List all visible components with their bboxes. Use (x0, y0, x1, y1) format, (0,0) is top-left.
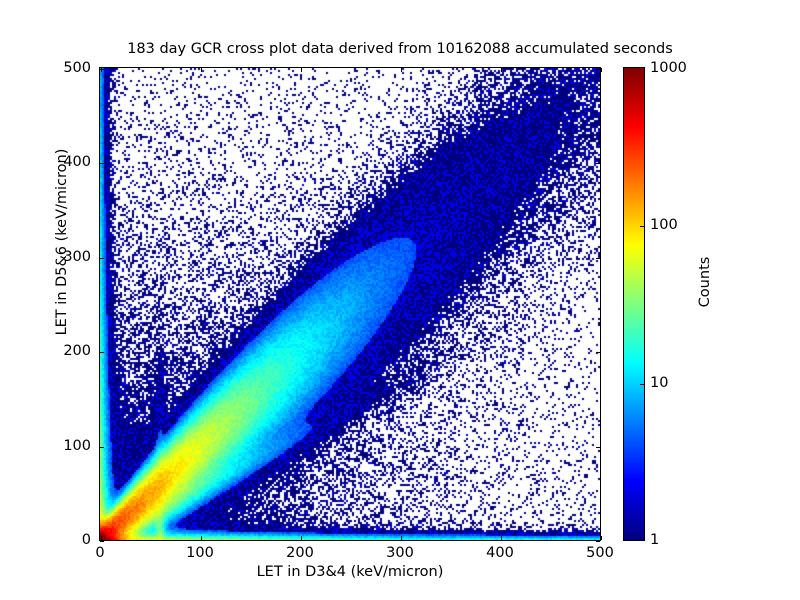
y-tick-mark (100, 258, 104, 259)
colorbar-tick-mark (640, 226, 644, 227)
colorbar-tick-label: 1000 (650, 60, 687, 76)
y-tick-label: 300 (33, 249, 91, 265)
density-heatmap-canvas (100, 68, 600, 540)
x-tick-mark (401, 536, 402, 540)
x-axis-label: LET in D3&4 (keV/micron) (99, 564, 601, 580)
colorbar-tick-mark (640, 384, 644, 385)
colorbar-label: Counts (697, 182, 713, 382)
y-tick-mark (100, 69, 104, 70)
x-tick-label: 0 (95, 545, 104, 561)
y-tick-label: 500 (33, 60, 91, 76)
y-tick-mark (596, 163, 600, 164)
y-tick-mark (596, 352, 600, 353)
y-tick-mark (596, 541, 600, 542)
x-tick-mark (201, 68, 202, 72)
x-tick-mark (601, 68, 602, 72)
gcr-cross-plot-figure: 183 day GCR cross plot data derived from… (0, 0, 800, 600)
y-tick-mark (100, 163, 104, 164)
y-tick-label: 400 (33, 154, 91, 170)
y-tick-mark (596, 258, 600, 259)
y-tick-mark (596, 69, 600, 70)
x-tick-label: 400 (486, 545, 514, 561)
x-tick-label: 100 (186, 545, 214, 561)
colorbar-gradient (624, 68, 644, 540)
x-tick-mark (101, 536, 102, 540)
colorbar-tick-label: 10 (650, 375, 668, 391)
colorbar (623, 67, 645, 541)
x-tick-label: 200 (286, 545, 314, 561)
x-tick-mark (301, 536, 302, 540)
plot-axes (99, 67, 601, 541)
x-tick-mark (201, 536, 202, 540)
x-tick-label: 300 (386, 545, 414, 561)
x-tick-mark (601, 536, 602, 540)
y-tick-mark (100, 352, 104, 353)
y-tick-label: 200 (33, 343, 91, 359)
x-tick-mark (501, 68, 502, 72)
colorbar-tick-label: 100 (650, 217, 678, 233)
title-line-1: 183 day GCR cross plot data derived from… (0, 41, 800, 59)
x-tick-mark (501, 536, 502, 540)
y-tick-mark (100, 541, 104, 542)
x-tick-mark (401, 68, 402, 72)
x-tick-mark (301, 68, 302, 72)
x-tick-label: 500 (586, 545, 614, 561)
y-tick-label: 0 (33, 532, 91, 548)
y-tick-label: 100 (33, 438, 91, 454)
y-tick-mark (596, 447, 600, 448)
y-tick-mark (100, 447, 104, 448)
colorbar-tick-label: 1 (650, 532, 659, 548)
